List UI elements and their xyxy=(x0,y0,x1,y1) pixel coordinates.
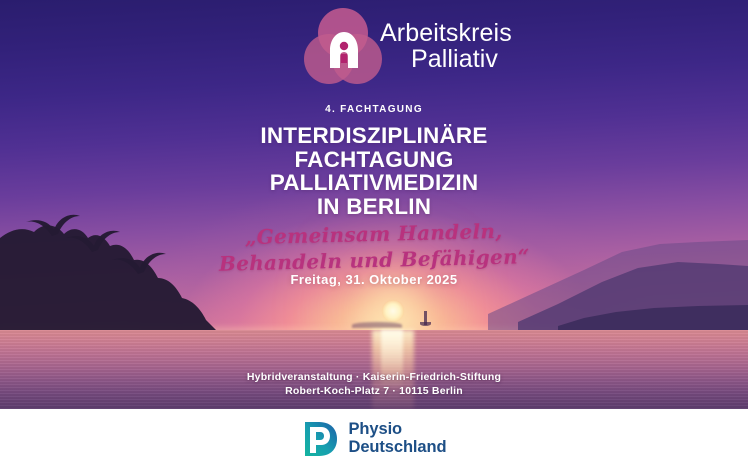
distant-islet xyxy=(352,322,402,328)
sun-disc xyxy=(382,300,404,322)
physio-deutschland-wordmark: Physio Deutschland xyxy=(349,421,447,456)
footer-bar: Physio Deutschland xyxy=(0,409,748,468)
physio-deutschland-logo: Physio Deutschland xyxy=(302,420,447,458)
title-line-2: FACHTAGUNG xyxy=(0,148,748,172)
title-line-1: INTERDISZIPLINÄRE xyxy=(0,124,748,148)
boat-silhouette xyxy=(424,311,427,325)
logo-wordmark: Arbeitskreis Palliativ xyxy=(380,20,500,72)
conference-poster: Arbeitskreis Palliativ 4. FACHTAGUNG INT… xyxy=(0,0,748,468)
partner-name-line-2: Deutschland xyxy=(349,439,447,457)
event-date: Freitag, 31. Oktober 2025 xyxy=(0,272,748,287)
title-line-3: PALLIATIVMEDIZIN xyxy=(0,171,748,195)
partner-name-line-1: Physio xyxy=(349,421,447,439)
logo-line-1: Arbeitskreis xyxy=(380,20,500,46)
physio-deutschland-mark-icon xyxy=(302,420,340,458)
letter-a-mark-icon xyxy=(328,30,360,70)
venue-line-1: Hybridveranstaltung · Kaiserin-Friedrich… xyxy=(0,370,748,384)
kicker-label: 4. FACHTAGUNG xyxy=(0,104,748,115)
arbeitskreis-palliativ-logo: Arbeitskreis Palliativ xyxy=(300,6,500,90)
logo-line-2: Palliativ xyxy=(380,46,500,72)
venn-circles-mark xyxy=(304,8,382,86)
venue-info: Hybridveranstaltung · Kaiserin-Friedrich… xyxy=(0,370,748,398)
page-title: INTERDISZIPLINÄRE FACHTAGUNG PALLIATIVME… xyxy=(0,124,748,218)
venue-line-2: Robert-Koch-Platz 7 · 10115 Berlin xyxy=(0,384,748,398)
